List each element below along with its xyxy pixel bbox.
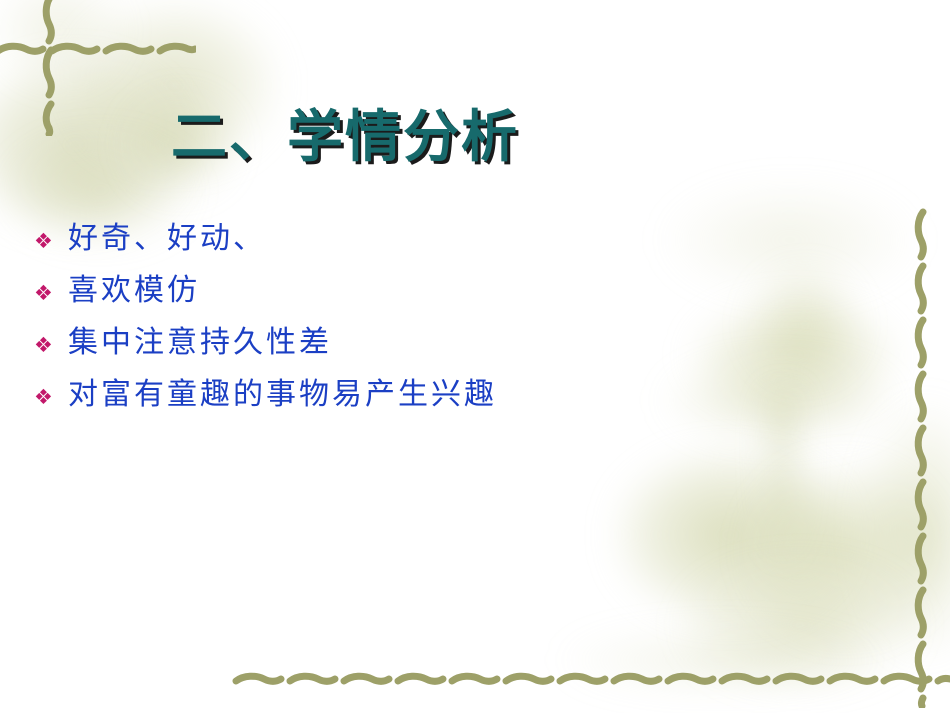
floral-watermark-bottom	[560, 625, 880, 695]
diamond-bullet-icon: ❖	[34, 283, 68, 304]
top-horizontal-rule	[0, 38, 196, 60]
list-item-label: 好奇、好动、	[68, 213, 266, 257]
list-item-label: 喜欢模仿	[68, 265, 200, 309]
lotus-leaf-2	[745, 460, 945, 640]
lotus-leaf-3	[680, 560, 920, 690]
list-item: ❖ 好奇、好动、	[34, 213, 894, 265]
list-item-label: 对富有童趣的事物易产生兴趣	[68, 369, 497, 413]
list-item: ❖ 喜欢模仿	[34, 265, 894, 317]
diamond-bullet-icon: ❖	[34, 335, 68, 356]
bullet-list: ❖ 好奇、好动、 ❖ 喜欢模仿 ❖ 集中注意持久性差 ❖ 对富有童趣的事物易产生…	[34, 213, 894, 421]
right-vertical-rule	[910, 208, 934, 708]
slide-title: 二、学情分析	[0, 92, 950, 173]
list-item: ❖ 集中注意持久性差	[34, 317, 894, 369]
slide-canvas: 二、学情分析 ❖ 好奇、好动、 ❖ 喜欢模仿 ❖ 集中注意持久性差 ❖ 对富有童…	[0, 0, 950, 713]
floral-watermark-top-left-5	[0, 0, 130, 90]
lotus-leaf-4	[860, 400, 950, 660]
list-item: ❖ 对富有童趣的事物易产生兴趣	[34, 369, 894, 421]
bottom-horizontal-rule	[232, 668, 950, 690]
diamond-bullet-icon: ❖	[34, 231, 68, 252]
list-item-label: 集中注意持久性差	[68, 317, 332, 361]
diamond-bullet-icon: ❖	[34, 387, 68, 408]
lotus-leaf-1	[615, 450, 845, 620]
